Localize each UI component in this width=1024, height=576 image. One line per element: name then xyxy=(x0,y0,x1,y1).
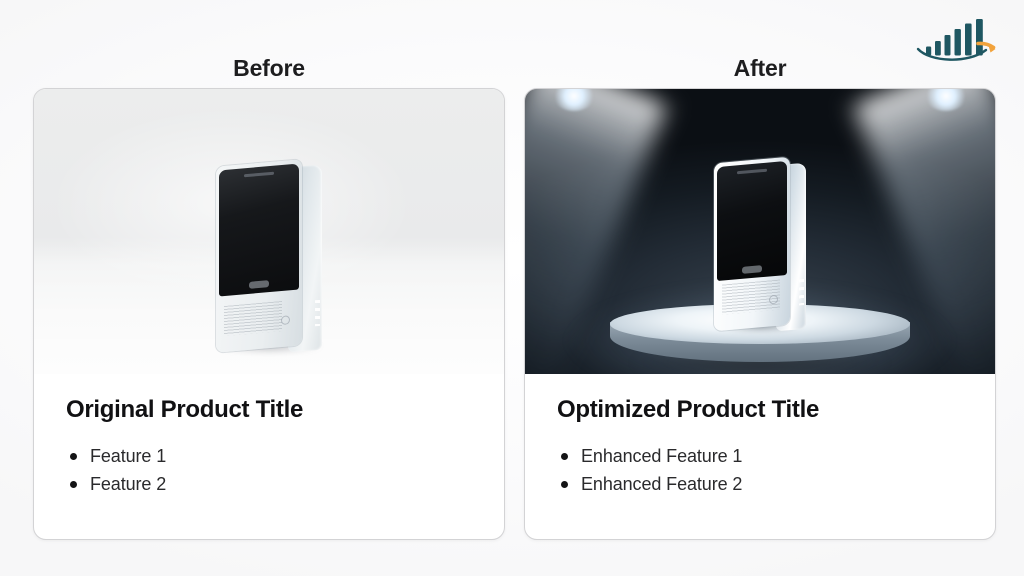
list-item: Feature 1 xyxy=(66,442,472,470)
before-feature-list: Feature 1 Feature 2 xyxy=(66,442,472,498)
after-product-title: Optimized Product Title xyxy=(557,396,963,424)
list-item: Enhanced Feature 1 xyxy=(557,442,963,470)
after-device-indicator-leds xyxy=(799,279,804,305)
before-photo-scene xyxy=(34,89,504,374)
before-device-speaker-icon xyxy=(244,172,274,178)
after-device xyxy=(708,155,812,330)
before-device-screen xyxy=(219,164,299,297)
before-device xyxy=(210,156,328,351)
before-card-body: Original Product Title Feature 1 Feature… xyxy=(34,374,504,498)
heading-before: Before xyxy=(33,55,505,82)
card-before[interactable]: Original Product Title Feature 1 Feature… xyxy=(33,88,505,540)
before-device-grille xyxy=(224,301,282,336)
list-item: Feature 2 xyxy=(66,470,472,498)
list-item: Enhanced Feature 2 xyxy=(557,470,963,498)
after-card-body: Optimized Product Title Enhanced Feature… xyxy=(525,374,995,498)
before-product-image xyxy=(34,89,504,374)
before-product-title: Original Product Title xyxy=(66,396,472,424)
after-device-screen xyxy=(717,161,787,281)
before-device-indicator-leds xyxy=(315,300,320,326)
after-device-speaker-icon xyxy=(737,169,767,175)
after-device-front xyxy=(714,157,790,332)
before-device-front xyxy=(216,159,302,353)
column-headings: Before After xyxy=(0,55,1024,87)
card-after[interactable]: Optimized Product Title Enhanced Feature… xyxy=(524,88,996,540)
heading-after: After xyxy=(524,55,996,82)
after-photo-scene xyxy=(525,89,995,374)
before-device-home-button xyxy=(249,280,269,289)
before-device-sensor-icon xyxy=(281,315,290,325)
after-product-image xyxy=(525,89,995,374)
after-feature-list: Enhanced Feature 1 Enhanced Feature 2 xyxy=(557,442,963,498)
after-device-home-button xyxy=(742,265,762,274)
